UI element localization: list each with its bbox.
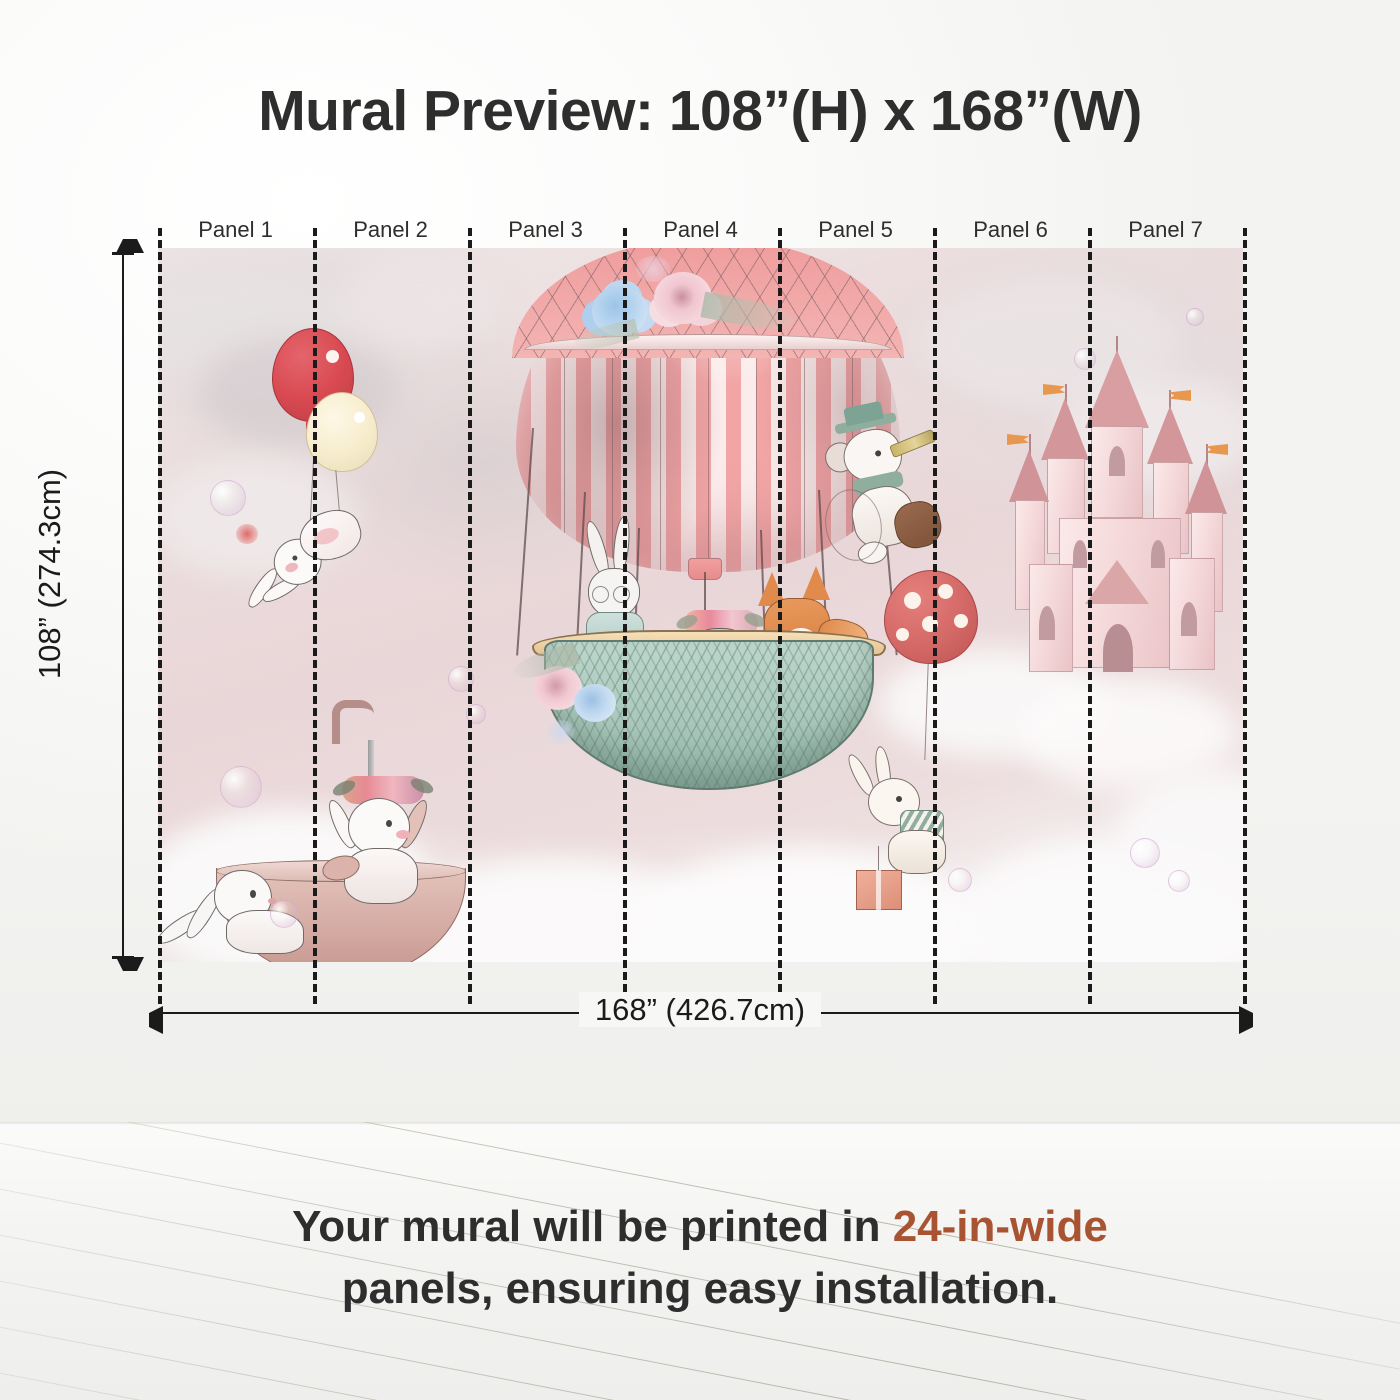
castle-roof xyxy=(1185,460,1227,514)
soap-bubble xyxy=(1186,308,1204,326)
gift-ribbon xyxy=(876,870,881,910)
castle-window xyxy=(1039,606,1055,640)
gift-string xyxy=(878,846,879,872)
telescope xyxy=(889,429,937,458)
castle-flag xyxy=(1007,434,1029,445)
panel-divider-4 xyxy=(778,228,782,1004)
panel-divider-5 xyxy=(933,228,937,1004)
castle-flag xyxy=(1206,444,1228,455)
bunny-eye xyxy=(386,820,392,827)
fox-ear xyxy=(802,566,830,600)
flower-sprig xyxy=(236,524,258,544)
panel-divider-6 xyxy=(1088,228,1092,1004)
castle-gatehouse-roof xyxy=(1085,560,1149,604)
panel-label-2: Panel 2 xyxy=(313,214,468,246)
balloon-flower-dot xyxy=(938,584,953,599)
caption-line-2: panels, ensuring easy installation. xyxy=(0,1258,1400,1320)
bunny-with-gift xyxy=(846,570,996,890)
balloon-string xyxy=(924,664,929,760)
page-title: Mural Preview: 108”(H) x 168”(W) xyxy=(0,78,1400,144)
caption-line-1: Your mural will be printed in 24-in-wide xyxy=(0,1196,1400,1258)
castle-roof xyxy=(1009,450,1049,502)
bunny-cheek xyxy=(396,830,410,839)
umbrella-handle xyxy=(332,700,374,744)
soap-bubble xyxy=(1074,348,1096,370)
flying-bunny-with-balloons xyxy=(244,328,394,588)
soap-bubble xyxy=(1130,838,1160,868)
soap-bubble xyxy=(220,766,262,808)
bunnies-in-umbrella xyxy=(172,700,492,950)
height-dimension-arrow xyxy=(122,252,124,958)
panel-label-6: Panel 6 xyxy=(933,214,1088,246)
flying-bunny xyxy=(242,496,382,613)
bunny-glasses xyxy=(613,586,630,603)
panel-divider-7 xyxy=(1243,228,1247,1004)
soap-bubble xyxy=(210,480,246,516)
width-dimension-text: 168” (426.7cm) xyxy=(579,992,821,1027)
balloon-flower-dot xyxy=(904,592,921,609)
panel-divider-0 xyxy=(158,228,162,1004)
caption-text-before: Your mural will be printed in xyxy=(292,1202,893,1251)
balloon-flower-dot xyxy=(896,628,909,641)
castle-flag xyxy=(1043,384,1065,395)
mural-preview xyxy=(158,248,1243,962)
caption: Your mural will be printed in 24-in-wide… xyxy=(0,1196,1400,1320)
panel-label-4: Panel 4 xyxy=(623,214,778,246)
panel-divider-1 xyxy=(313,228,317,1004)
bunny-glasses xyxy=(592,586,609,603)
balloon-highlight xyxy=(326,350,339,363)
bunny-with-flower-crown xyxy=(314,778,454,908)
balloon-flower-small xyxy=(636,256,670,282)
panel-label-5: Panel 5 xyxy=(778,214,933,246)
height-dimension-label: 108” (274.3cm) xyxy=(32,364,68,784)
panel-divider-2 xyxy=(468,228,472,1004)
basket-flower-small xyxy=(548,720,574,744)
bunny-body xyxy=(888,830,946,874)
basket-flower-blue xyxy=(574,684,616,722)
panel-divider-3 xyxy=(623,228,627,1004)
gift-bunny xyxy=(852,748,972,878)
balloon-highlight xyxy=(354,412,365,423)
soap-bubble xyxy=(1168,870,1190,892)
caption-accent-text: 24-in-wide xyxy=(893,1202,1108,1251)
soap-bubble xyxy=(270,900,298,928)
bunny-body xyxy=(344,848,418,904)
bunny-eye xyxy=(896,796,902,802)
bunny-eye xyxy=(250,890,256,898)
panel-label-row: Panel 1Panel 2Panel 3Panel 4Panel 5Panel… xyxy=(158,214,1243,246)
width-dimension-label: 168” (426.7cm) xyxy=(0,992,1400,1028)
castle-window xyxy=(1073,540,1087,568)
castle-window xyxy=(1181,602,1197,636)
panel-label-1: Panel 1 xyxy=(158,214,313,246)
castle-window xyxy=(1151,540,1165,568)
panel-label-3: Panel 3 xyxy=(468,214,623,246)
panel-label-7: Panel 7 xyxy=(1088,214,1243,246)
soap-bubble xyxy=(948,868,972,892)
castle-window xyxy=(1109,446,1125,476)
floor-plank xyxy=(0,1324,1400,1400)
balloon-flower-dot xyxy=(954,614,968,628)
mural-artwork xyxy=(158,248,1243,962)
castle-illustration xyxy=(1003,328,1233,698)
castle-roof xyxy=(1147,406,1193,464)
height-dim-cap-bottom xyxy=(112,956,134,959)
castle-flag xyxy=(1169,390,1191,401)
